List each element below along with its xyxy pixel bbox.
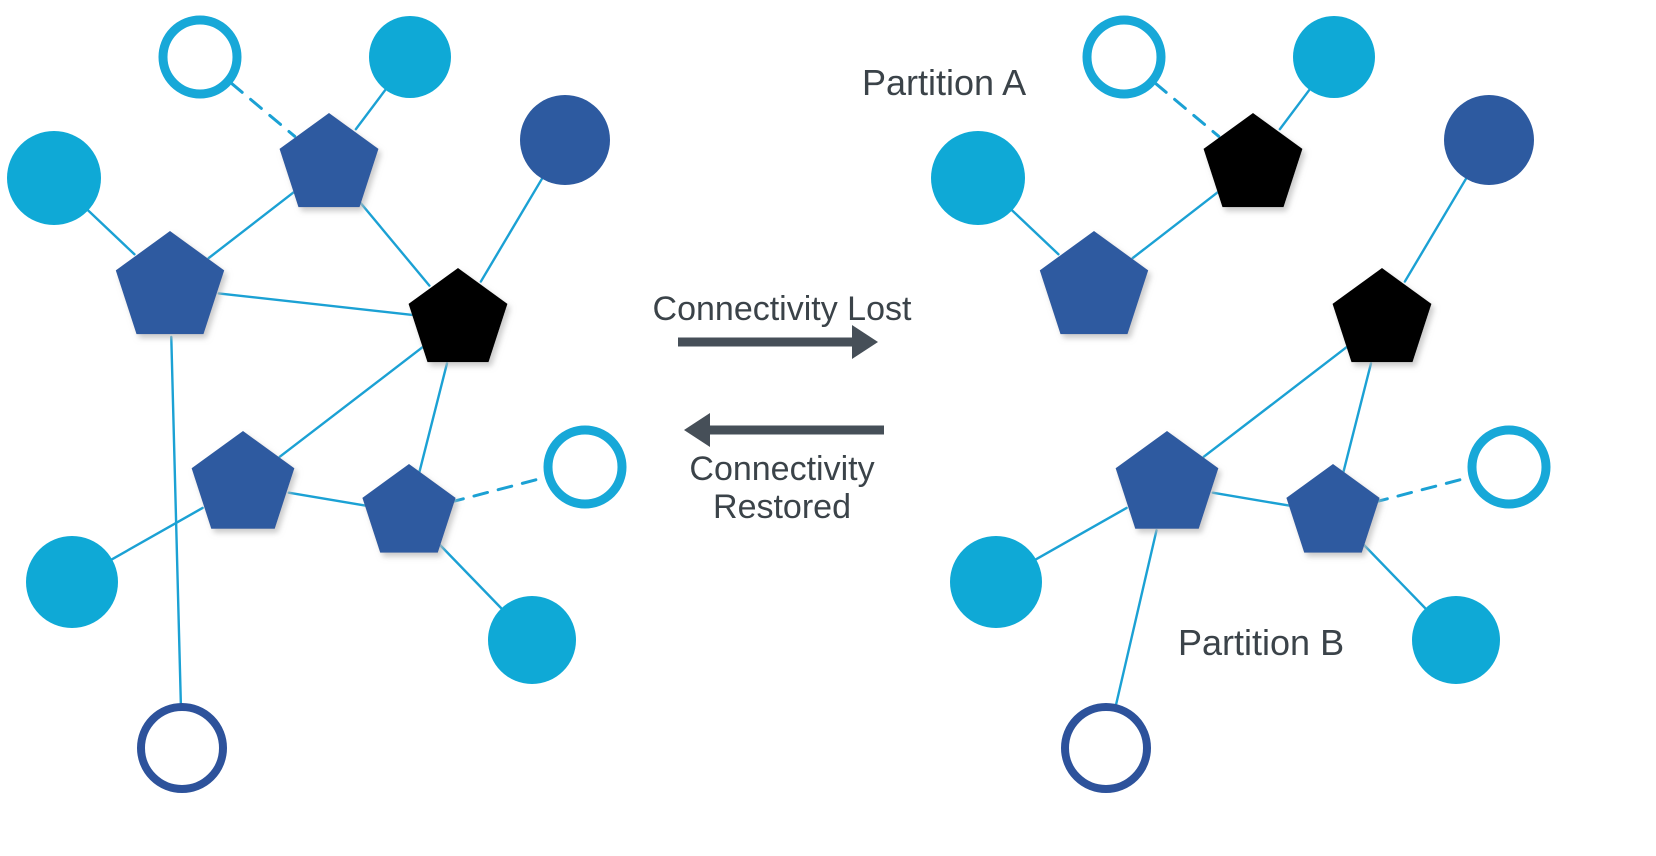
edge-L-c4-to-L-p2 — [88, 210, 134, 254]
edge-R-p5-to-R-c7 — [1362, 543, 1425, 608]
edge-L-p1-to-L-p2 — [209, 192, 294, 258]
edge-L-p1-to-L-p3 — [358, 199, 430, 285]
node-black-pentagon-center[interactable] — [409, 268, 508, 362]
node-light-circle-top-right[interactable] — [369, 16, 451, 98]
edge-L-p4-to-L-c6 — [112, 508, 203, 559]
edge-R-p4-to-R-c6 — [1036, 508, 1127, 559]
edge-L-p5-to-L-c7 — [438, 543, 501, 608]
node-blue-pentagon-left[interactable] — [1040, 231, 1148, 334]
arrows-layer — [678, 325, 884, 447]
network-partition-diagram: Connectivity LostConnectivityRestoredPar… — [0, 0, 1656, 856]
edge-L-c1-to-L-p1-dashed — [231, 83, 294, 136]
node-light-circle-lower-left[interactable] — [950, 536, 1042, 628]
connectivity-restored-label-line2: Restored — [713, 488, 851, 526]
diagram-canvas: Connectivity LostConnectivityRestoredPar… — [0, 0, 1656, 856]
node-light-circle-left[interactable] — [7, 131, 101, 225]
nodes-layer — [7, 16, 1546, 789]
edge-R-p1-to-R-p2 — [1133, 192, 1218, 258]
node-light-circle-bottom-right[interactable] — [488, 596, 576, 684]
node-hollow-light-circle-top[interactable] — [163, 20, 237, 94]
edge-L-c3-to-L-p3 — [481, 179, 542, 282]
node-blue-pentagon-lower-left[interactable] — [192, 431, 295, 529]
node-hollow-light-circle-right[interactable] — [1472, 430, 1546, 504]
node-blue-pentagon-lower-left[interactable] — [1116, 431, 1219, 529]
node-light-circle-top-right[interactable] — [1293, 16, 1375, 98]
partition-a-label: Partition A — [862, 62, 1026, 103]
edge-R-p4-to-R-c8 — [1116, 530, 1156, 704]
connectivity-lost-arrow-head — [852, 325, 878, 359]
edge-R-p5-to-R-c5-dashed — [1374, 477, 1470, 502]
connectivity-restored-arrow-head — [684, 413, 710, 447]
edge-R-p3-to-R-p5 — [1343, 363, 1371, 472]
node-hollow-dark-circle-bottom[interactable] — [141, 707, 223, 789]
node-blue-pentagon-top[interactable] — [280, 113, 379, 207]
edge-R-p4-to-R-p5 — [1213, 493, 1292, 506]
edge-L-p4-to-L-p5 — [289, 493, 368, 506]
node-blue-pentagon-lower-right[interactable] — [1286, 464, 1379, 553]
partition-b-label: Partition B — [1178, 622, 1344, 663]
edge-R-p3-to-R-p4 — [1204, 347, 1347, 457]
node-light-circle-bottom-right[interactable] — [1412, 596, 1500, 684]
connectivity-restored-label-line1: Connectivity — [689, 450, 874, 488]
edge-L-c2-to-L-p1 — [356, 90, 386, 129]
edge-L-p3-to-L-p4 — [280, 347, 423, 457]
edge-R-c2-to-R-p1 — [1280, 90, 1310, 129]
edge-R-c4-to-R-p2 — [1012, 210, 1058, 254]
node-black-pentagon-center[interactable] — [1333, 268, 1432, 362]
node-dark-circle-top-right[interactable] — [1444, 95, 1534, 185]
edge-R-c3-to-R-p3 — [1405, 179, 1466, 282]
node-black-pentagon-top[interactable] — [1204, 113, 1303, 207]
node-hollow-dark-circle-bottom[interactable] — [1065, 707, 1147, 789]
node-blue-pentagon-left[interactable] — [116, 231, 224, 334]
node-hollow-light-circle-top[interactable] — [1087, 20, 1161, 94]
edge-R-c1-to-R-p1-dashed — [1155, 83, 1218, 136]
node-light-circle-lower-left[interactable] — [26, 536, 118, 628]
edge-L-p3-to-L-p5 — [419, 363, 447, 472]
node-light-circle-left[interactable] — [931, 131, 1025, 225]
edge-L-p2-to-L-p3 — [219, 293, 414, 315]
node-dark-circle-top-right[interactable] — [520, 95, 610, 185]
connectivity-lost-label: Connectivity Lost — [653, 290, 912, 328]
node-hollow-light-circle-right[interactable] — [548, 430, 622, 504]
node-blue-pentagon-lower-right[interactable] — [362, 464, 455, 553]
edge-L-p5-to-L-c5-dashed — [450, 477, 546, 502]
